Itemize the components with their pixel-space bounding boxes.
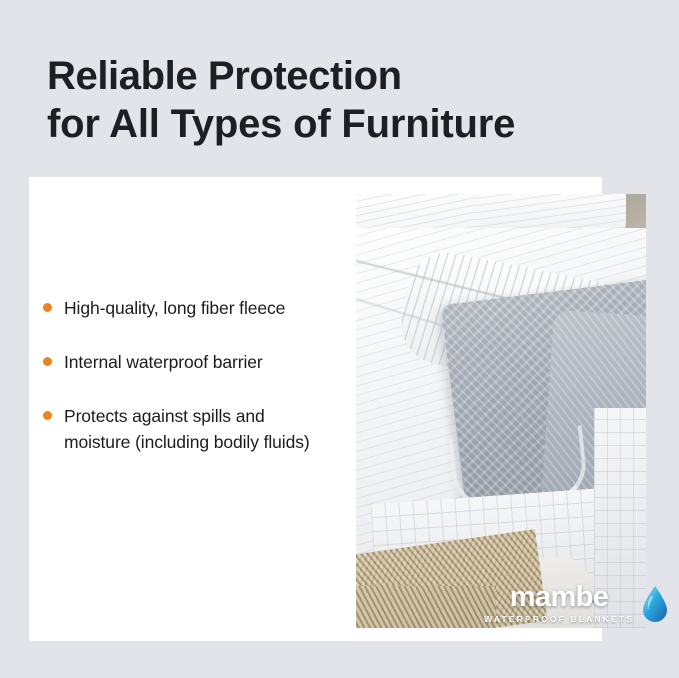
list-item: Internal waterproof barrier — [40, 349, 330, 375]
bullet-dot-icon — [43, 357, 52, 366]
jute-rug-foreground — [356, 586, 496, 628]
product-photo-scene — [356, 194, 646, 628]
brand-tagline: WATERPROOF BLANKETS — [484, 613, 634, 625]
feature-list: High-quality, long fiber fleece Internal… — [40, 295, 330, 455]
bullet-dot-icon — [43, 303, 52, 312]
list-item: Protects against spills and moisture (in… — [40, 403, 330, 455]
product-photo — [356, 194, 646, 628]
brand-logo: mambe WATERPROOF BLANKETS — [484, 583, 670, 625]
brand-name: mambe — [510, 583, 609, 612]
page-title-line-2: for All Types of Furniture — [47, 100, 647, 148]
page-title-line-1: Reliable Protection — [47, 52, 647, 100]
list-item: High-quality, long fiber fleece — [40, 295, 330, 321]
list-item-label: High-quality, long fiber fleece — [64, 298, 285, 318]
list-item-label: Internal waterproof barrier — [64, 352, 263, 372]
brand-logo-text: mambe WATERPROOF BLANKETS — [484, 583, 634, 625]
list-item-label: Protects against spills and moisture (in… — [64, 406, 310, 452]
page-title: Reliable Protection for All Types of Fur… — [47, 52, 647, 148]
bullet-dot-icon — [43, 411, 52, 420]
water-droplet-icon — [640, 584, 670, 624]
